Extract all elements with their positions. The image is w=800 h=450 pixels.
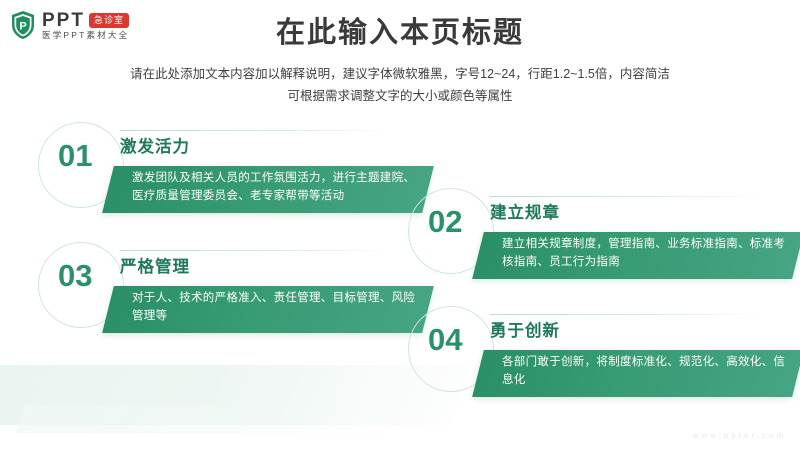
page-title: 在此输入本页标题 (0, 16, 800, 51)
subtitle-line-2: 可根据需求调整文字的大小或颜色等属性 (0, 86, 800, 108)
item-divider-04 (490, 314, 760, 315)
content-item-01[interactable]: 01 激发活力 激发团队及相关人员的工作氛围活力，进行主题建院、医疗质量管理委员… (32, 122, 432, 222)
item-title-04: 勇于创新 (490, 322, 560, 342)
content-item-03[interactable]: 03 严格管理 对于人、技术的严格准入、责任管理、目标管理、风险管理等 (32, 242, 432, 342)
item-body-01: 激发团队及相关人员的工作氛围活力，进行主题建院、医疗质量管理委员会、老专家帮带等… (132, 170, 422, 206)
item-divider-03 (120, 250, 390, 251)
page-subtitle: 请在此处添加文本内容加以解释说明，建议字体微软雅黑，字号12~24，行距1.2~… (0, 64, 800, 108)
slide-canvas: P PPT 急诊室 医学PPT素材大全 在此输入本页标题 请在此处添加文本内容加… (0, 0, 800, 450)
item-body-03: 对于人、技术的严格准入、责任管理、目标管理、风险管理等 (132, 290, 422, 326)
item-body-04: 各部门敢于创新，将制度标准化、规范化、高效化、信息化 (502, 354, 792, 390)
item-title-02: 建立规章 (490, 204, 560, 224)
item-title-01: 激发活力 (120, 138, 190, 158)
background-slant-shape-secondary (15, 405, 404, 433)
subtitle-line-1: 请在此处添加文本内容加以解释说明，建议字体微软雅黑，字号12~24，行距1.2~… (0, 64, 800, 86)
content-item-02[interactable]: 02 建立规章 建立相关规章制度，管理指南、业务标准指南、标准考核指南、员工行为… (402, 188, 800, 288)
item-divider-02 (490, 196, 760, 197)
background-slant-shape (0, 365, 470, 425)
item-divider-01 (120, 130, 390, 131)
content-item-04[interactable]: 04 勇于创新 各部门敢于创新，将制度标准化、规范化、高效化、信息化 (402, 306, 800, 406)
item-number-02: 02 (428, 206, 462, 237)
item-number-03: 03 (58, 260, 92, 291)
footer-watermark: www.ppter.com (693, 432, 786, 440)
item-number-04: 04 (428, 324, 462, 355)
item-title-03: 严格管理 (120, 258, 190, 278)
item-body-02: 建立相关规章制度，管理指南、业务标准指南、标准考核指南、员工行为指南 (502, 236, 792, 272)
item-number-01: 01 (58, 140, 92, 171)
